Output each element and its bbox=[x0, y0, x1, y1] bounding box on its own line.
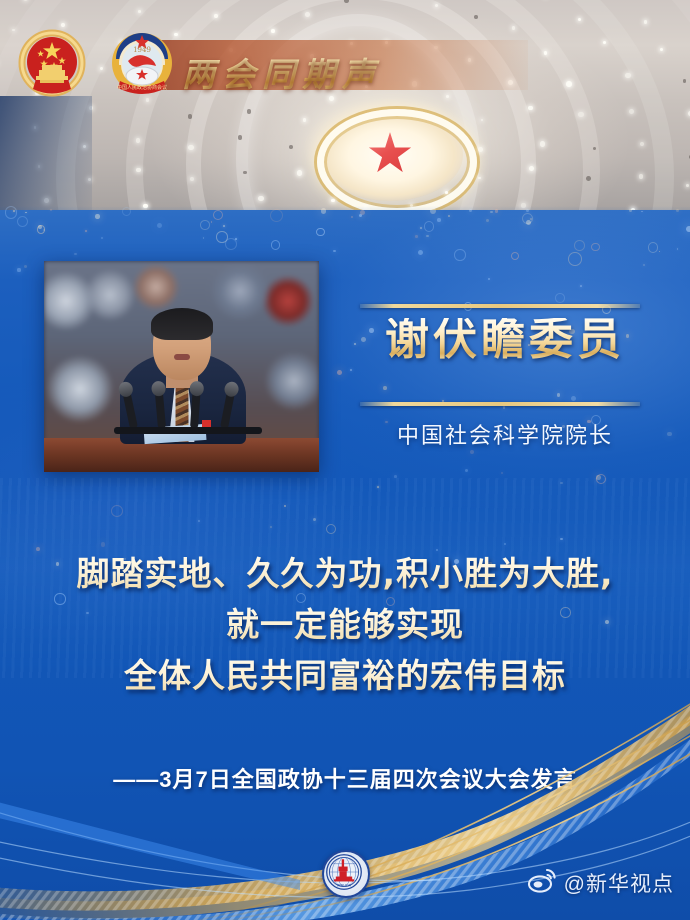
header-banner-title: 两会同期声 bbox=[182, 48, 382, 96]
weibo-handle: @新华视点 bbox=[564, 868, 674, 898]
speaker-photo bbox=[44, 261, 319, 472]
quote-block: 脚踏实地、久久为功,积小胜为大胜, 就一定能够实现 全体人民共同富裕的宏伟目标 bbox=[0, 548, 690, 701]
header-emblems: 1949 中国人民政治协商会议 bbox=[18, 28, 176, 100]
photo-speaker-hair bbox=[151, 308, 213, 340]
weibo-watermark: @新华视点 bbox=[527, 867, 674, 898]
national-emblem-china-icon bbox=[18, 29, 86, 99]
weibo-icon bbox=[527, 867, 557, 898]
poster: 1949 中国人民政治协商会议 两会同期声 bbox=[0, 0, 690, 920]
xinhua-logo-icon: XINHUA bbox=[322, 850, 370, 898]
svg-text:中国人民政治协商会议: 中国人民政治协商会议 bbox=[117, 84, 167, 91]
quote-line-2: 就一定能够实现 bbox=[0, 599, 690, 650]
speaker-name: 谢伏瞻委员 bbox=[360, 318, 650, 362]
svg-text:XINHUA: XINHUA bbox=[337, 884, 352, 888]
svg-text:1949: 1949 bbox=[133, 46, 151, 54]
quote-line-1: 脚踏实地、久久为功,积小胜为大胜, bbox=[0, 548, 690, 599]
photo-speaker-mouth bbox=[174, 354, 190, 360]
name-rule-bottom bbox=[360, 402, 640, 406]
name-rule-top bbox=[360, 304, 640, 308]
cppcc-emblem-icon: 1949 中国人民政治协商会议 bbox=[108, 29, 176, 99]
speaker-role: 中国社会科学院院长 bbox=[360, 418, 650, 450]
photo-microphone-bar bbox=[114, 427, 262, 434]
